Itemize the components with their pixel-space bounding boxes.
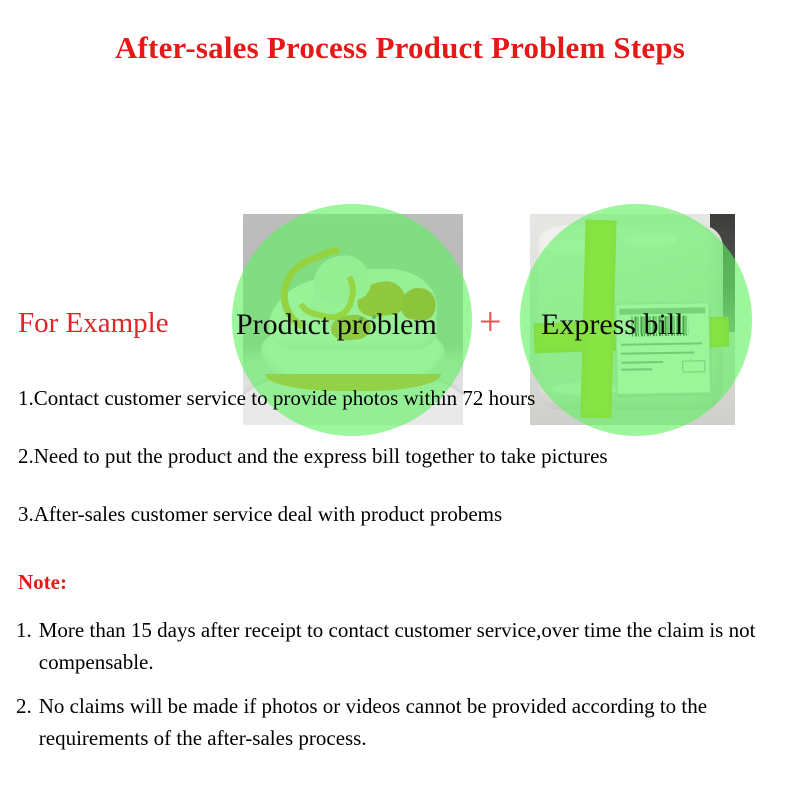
page-title: After-sales Process Product Problem Step… <box>0 30 800 66</box>
label-text-line <box>621 342 702 345</box>
note-item: 2. No claims will be made if photos or v… <box>16 690 794 754</box>
label-text-line <box>621 368 652 371</box>
steps-list: 1.Contact customer service to provide ph… <box>18 388 788 562</box>
note-item-number: 1. <box>16 614 39 678</box>
label-text-line <box>621 351 695 354</box>
sneaker-eyelets <box>344 311 388 332</box>
label-header-bar <box>619 306 706 314</box>
package-wrinkle <box>624 233 677 246</box>
note-item-text: More than 15 days after receipt to conta… <box>39 614 794 678</box>
step-item: 2.Need to put the product and the expres… <box>18 446 788 467</box>
note-heading: Note: <box>18 570 67 595</box>
label-text-line <box>621 360 663 363</box>
for-example-label: For Example <box>18 307 169 340</box>
note-item: 1. More than 15 days after receipt to co… <box>16 614 794 678</box>
note-item-number: 2. <box>16 690 39 754</box>
barcode <box>631 316 689 336</box>
label-signature-box <box>683 359 705 372</box>
example-band: For Example <box>0 100 800 350</box>
note-list: 1. More than 15 days after receipt to co… <box>16 614 794 766</box>
shipping-label <box>615 302 711 394</box>
step-item: 3.After-sales customer service deal with… <box>18 504 788 525</box>
note-item-text: No claims will be made if photos or vide… <box>39 690 794 754</box>
plus-icon: + <box>479 302 502 342</box>
step-item: 1.Contact customer service to provide ph… <box>18 388 788 409</box>
